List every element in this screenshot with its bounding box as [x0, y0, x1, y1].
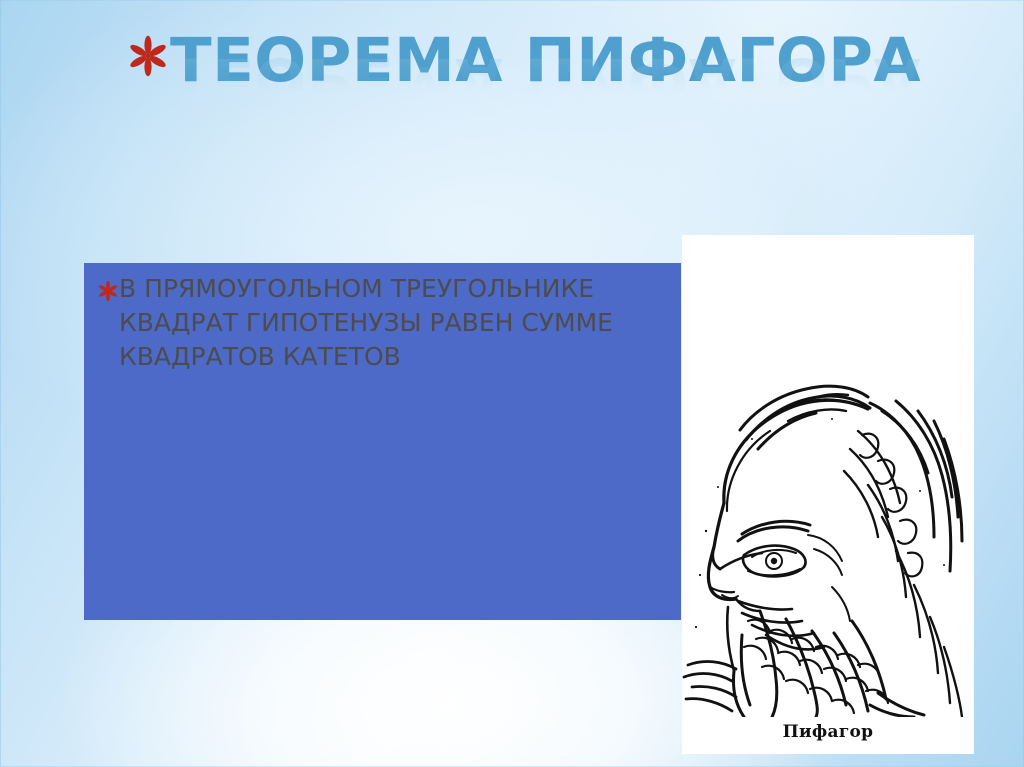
asterisk-flower-icon — [128, 34, 168, 78]
pythagoras-portrait-icon — [682, 235, 974, 717]
asterisk-flower-icon — [98, 280, 118, 302]
slide-title-block: Теорема Пифагора Теорема Пифагора — [128, 22, 928, 142]
presentation-slide: Теорема Пифагора Теорема Пифагора — [0, 0, 1024, 767]
portrait-caption: Пифагор — [682, 722, 974, 742]
page-title: Теорема Пифагора — [170, 22, 921, 100]
content-box: В прямоугольном треугольнике квадрат гип… — [84, 263, 681, 620]
body-bullet-row: В прямоугольном треугольнике квадрат гип… — [84, 263, 681, 374]
theorem-statement-text: В прямоугольном треугольнике квадрат гип… — [119, 272, 664, 374]
portrait-panel: Пифагор — [682, 235, 974, 754]
title-row: Теорема Пифагора — [128, 22, 928, 100]
